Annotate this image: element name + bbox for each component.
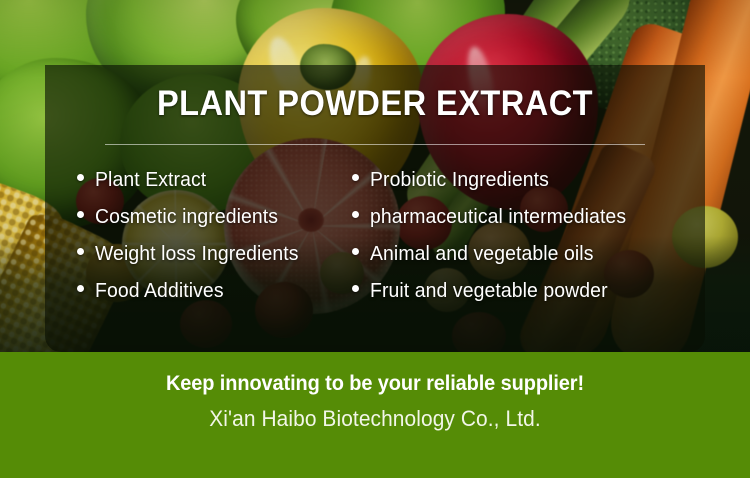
list-item[interactable]: pharmaceutical intermediates: [352, 206, 705, 243]
bullet-dot-icon: [77, 211, 84, 218]
list-item[interactable]: Animal and vegetable oils: [352, 243, 705, 280]
list-item[interactable]: Weight loss Ingredients: [77, 243, 340, 280]
bullet-dot-icon: [77, 248, 84, 255]
list-item-label: Animal and vegetable oils: [370, 243, 594, 266]
footer-bar: Keep innovating to be your reliable supp…: [0, 352, 750, 478]
feature-list-left: Plant Extract Cosmetic ingredients Weigh…: [45, 169, 340, 317]
feature-lists: Plant Extract Cosmetic ingredients Weigh…: [45, 169, 705, 317]
page-title: PLANT POWDER EXTRACT: [68, 84, 682, 124]
bullet-dot-icon: [77, 285, 84, 292]
list-item-label: Cosmetic ingredients: [95, 206, 278, 229]
company-name: Xi'an Haibo Biotechnology Co., Ltd.: [19, 406, 732, 432]
footer-tagline: Keep innovating to be your reliable supp…: [19, 372, 732, 396]
bullet-dot-icon: [352, 285, 359, 292]
list-item-label: Fruit and vegetable powder: [370, 280, 608, 303]
list-item[interactable]: Probiotic Ingredients: [352, 169, 705, 206]
list-item-label: Plant Extract: [95, 169, 206, 192]
list-item-label: Probiotic Ingredients: [370, 169, 549, 192]
list-item[interactable]: Plant Extract: [77, 169, 340, 206]
list-item-label: Weight loss Ingredients: [95, 243, 299, 266]
feature-list-right: Probiotic Ingredients pharmaceutical int…: [340, 169, 705, 317]
bullet-dot-icon: [77, 174, 84, 181]
list-item[interactable]: Food Additives: [77, 280, 340, 317]
content-overlay-panel: PLANT POWDER EXTRACT Plant Extract Cosme…: [45, 65, 705, 352]
title-divider: [105, 144, 645, 145]
bullet-dot-icon: [352, 211, 359, 218]
bullet-dot-icon: [352, 248, 359, 255]
list-item[interactable]: Fruit and vegetable powder: [352, 280, 705, 317]
list-item-label: Food Additives: [95, 280, 224, 303]
list-item[interactable]: Cosmetic ingredients: [77, 206, 340, 243]
list-item-label: pharmaceutical intermediates: [370, 206, 626, 229]
product-banner: PLANT POWDER EXTRACT Plant Extract Cosme…: [0, 0, 750, 478]
bullet-dot-icon: [352, 174, 359, 181]
